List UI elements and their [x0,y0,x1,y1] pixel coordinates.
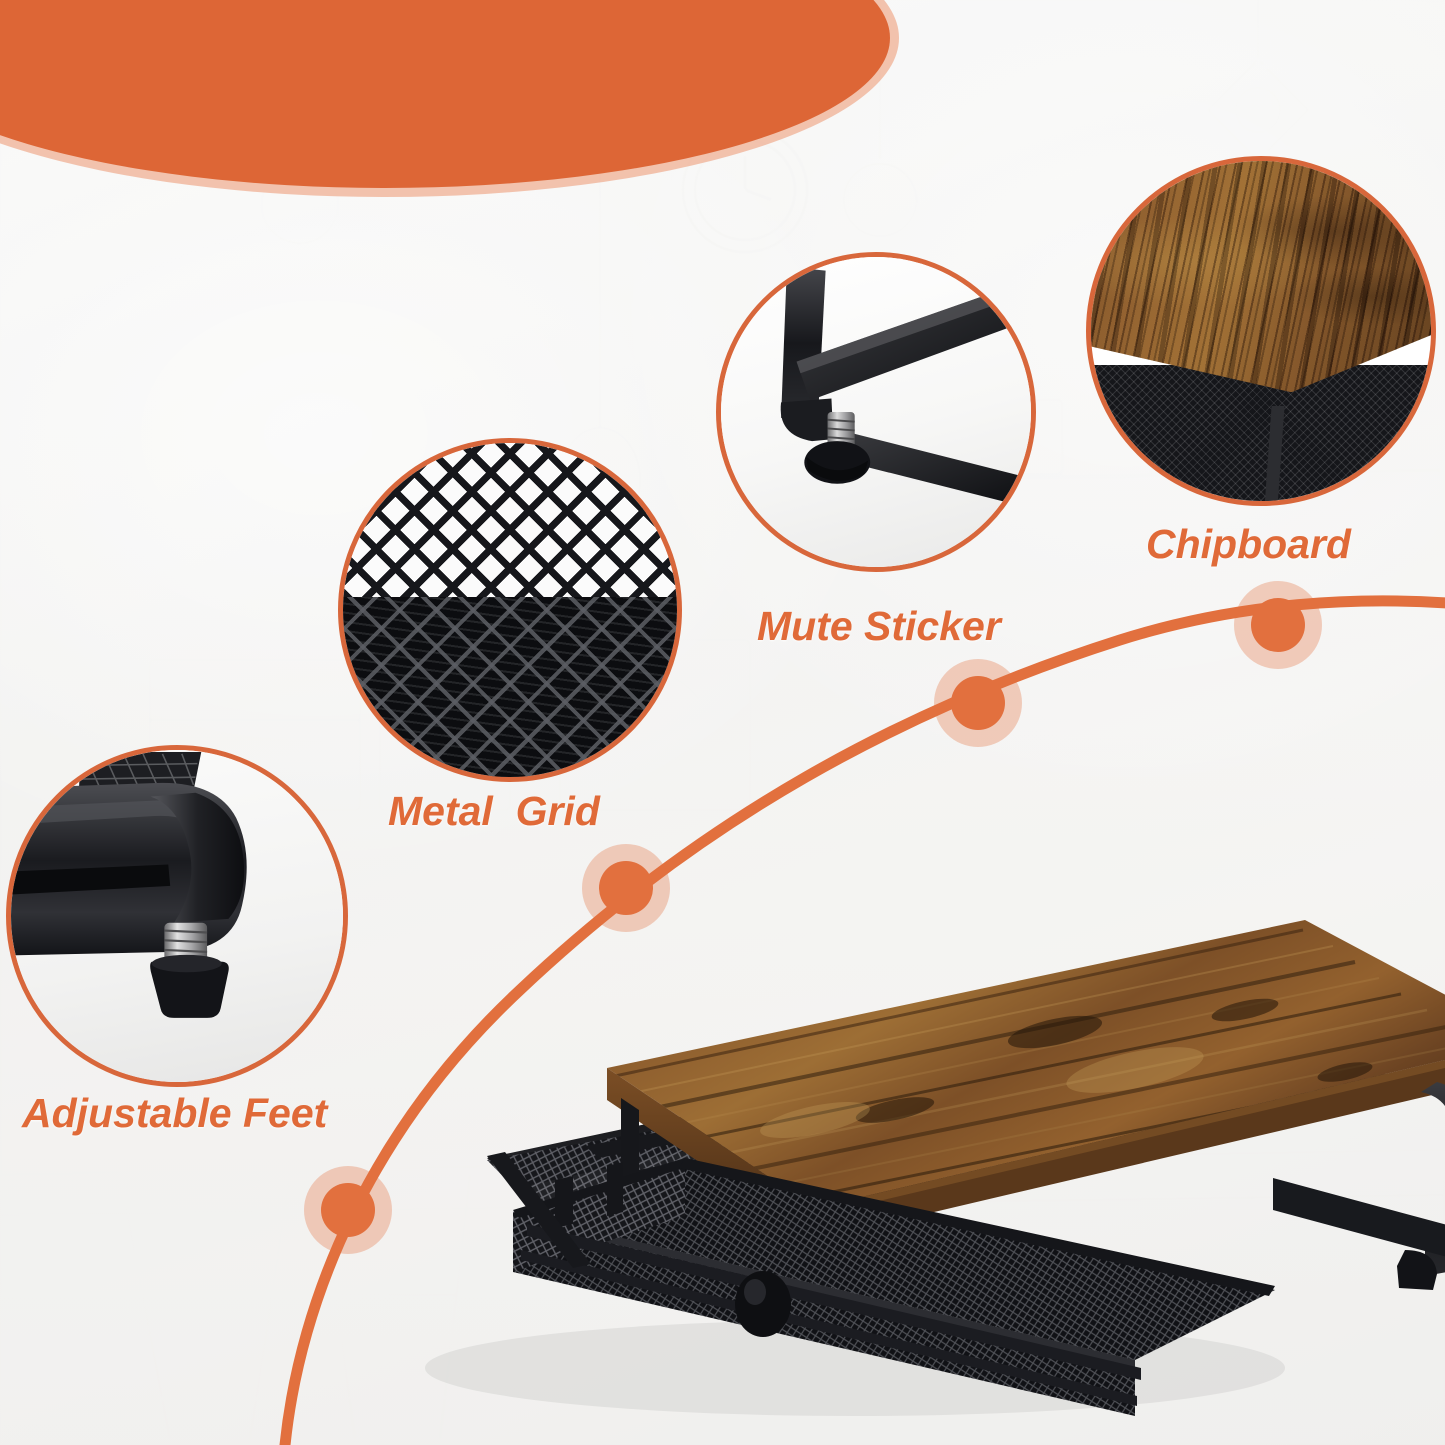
callout-metal-grid [338,438,682,782]
dot-core [1251,598,1305,652]
callout-chipboard [1086,156,1436,506]
label-mute-sticker: Mute Sticker [757,603,1001,650]
wood-board-icon [1086,156,1436,392]
page-title: SHOW DETAILS [0,0,652,10]
callout-metal-grid-image [343,443,677,777]
callout-mute-sticker [716,252,1036,572]
callout-chipboard-image [1091,161,1431,501]
product-monitor-stand [255,820,1445,1445]
diamond-mesh-light-icon [343,443,677,597]
dot-core [951,676,1005,730]
mesh-icon [1091,365,1431,501]
label-chipboard: Chipboard [1146,521,1351,568]
infographic-canvas: Chipboard Mute Sticker Metal Grid Adjust… [0,0,1445,1445]
callout-mute-sticker-image [721,257,1031,567]
diamond-mesh-dark-icon [343,597,677,777]
